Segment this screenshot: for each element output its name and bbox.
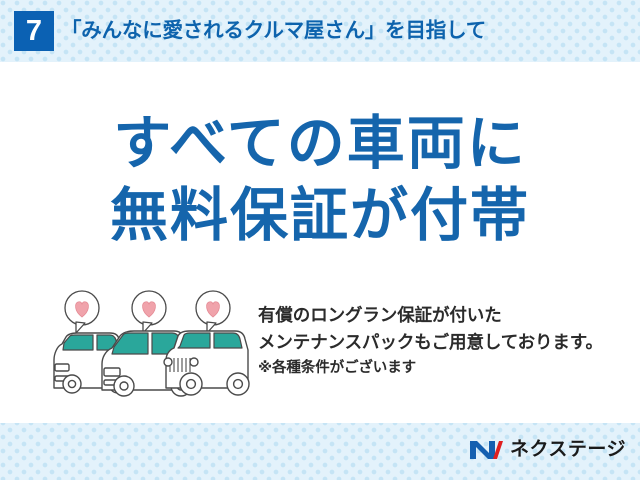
footer: ネクステージ xyxy=(0,423,640,480)
headline-line-1: すべての車両に xyxy=(0,108,640,180)
section-number-badge: 7 xyxy=(14,11,54,51)
headline: すべての車両に 無料保証が付帯 xyxy=(0,108,640,252)
brand-logo: ネクステージ xyxy=(469,435,626,465)
headline-line-2: 無料保証が付帯 xyxy=(0,180,640,252)
copy-line-note: ※各種条件がございます xyxy=(258,356,633,381)
brand-logo-text: ネクステージ xyxy=(510,435,626,465)
lower-section: 有償のロングラン保証が付いた メンテナンスパックもご用意しております。 ※各種条… xyxy=(0,288,640,413)
header: 7 「みんなに愛されるクルマ屋さん」を目指して xyxy=(0,0,640,62)
body-copy: 有償のロングラン保証が付いた メンテナンスパックもご用意しております。 ※各種条… xyxy=(258,302,633,381)
cars-illustration-svg xyxy=(52,288,252,400)
promo-banner: 7 「みんなに愛されるクルマ屋さん」を目指して すべての車両に 無料保証が付帯 xyxy=(0,0,640,480)
header-title: 「みんなに愛されるクルマ屋さん」を目指して xyxy=(61,12,486,50)
nexstage-n-icon xyxy=(469,438,503,462)
car-suv xyxy=(164,331,249,395)
cars-illustration xyxy=(52,288,252,400)
copy-line-2: メンテナンスパックもご用意しております。 xyxy=(258,329,633,356)
content-card: すべての車両に 無料保証が付帯 xyxy=(0,62,640,423)
copy-line-1: 有償のロングラン保証が付いた xyxy=(258,302,633,329)
